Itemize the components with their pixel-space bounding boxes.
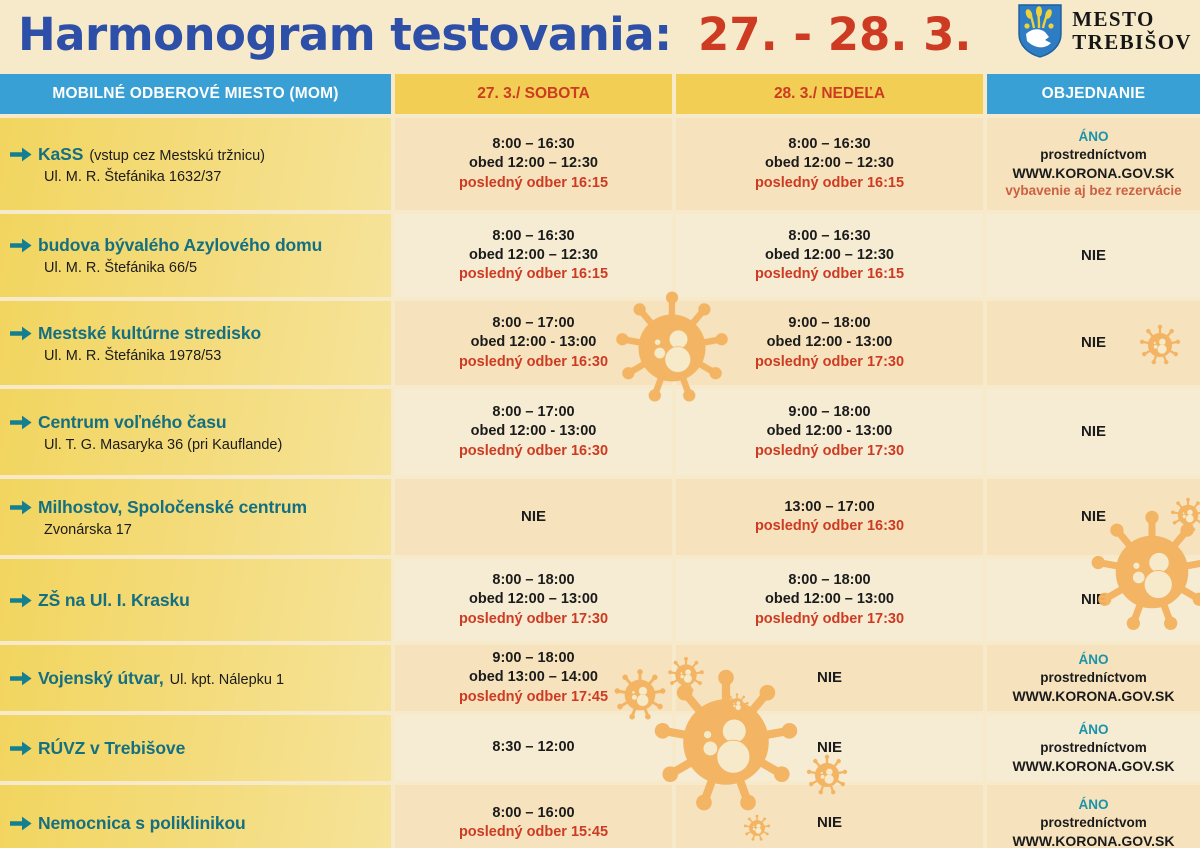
- cell-objednanie: NIE: [987, 479, 1200, 555]
- cell-saturday: 8:00 – 16:00posledný odber 15:45: [395, 785, 672, 848]
- lunch-break: obed 12:00 – 12:30: [765, 246, 894, 265]
- cell-objednanie: NIE: [987, 301, 1200, 385]
- location-address: Ul. M. R. Štefánika 1632/37: [44, 169, 383, 185]
- last-sampling: posledný odber 16:15: [459, 265, 608, 284]
- location-name: Milhostov, Spoločenské centrum: [38, 497, 307, 518]
- cell-sunday: 13:00 – 17:00posledný odber 16:30: [676, 479, 983, 555]
- trebisov-coat-of-arms-icon: [1018, 4, 1062, 58]
- cell-objednanie: NIE: [987, 214, 1200, 297]
- arrow-right-icon: [10, 593, 32, 608]
- arrow-right-icon: [10, 238, 32, 253]
- location-name-suffix: Ul. kpt. Nálepku 1: [170, 672, 284, 688]
- table-row: Vojenský útvar,Ul. kpt. Nálepku 19:00 – …: [0, 645, 1200, 711]
- booking-yes-label: ÁNO: [1079, 128, 1109, 146]
- cell-saturday: 8:00 – 17:00obed 12:00 - 13:00posledný o…: [395, 389, 672, 475]
- cell-saturday: 8:00 – 17:00obed 12:00 - 13:00posledný o…: [395, 301, 672, 385]
- closed-label: NIE: [817, 668, 842, 688]
- cell-location: Milhostov, Spoločenské centrumZvonárska …: [0, 479, 391, 555]
- location-name-suffix: (vstup cez Mestskú tržnicu): [89, 148, 265, 164]
- closed-label: NIE: [817, 738, 842, 758]
- booking-no-label: NIE: [1081, 590, 1106, 610]
- table-row: Centrum voľného časuUl. T. G. Masaryka 3…: [0, 389, 1200, 475]
- cell-sunday: 8:00 – 18:00obed 12:00 – 13:00posledný o…: [676, 559, 983, 641]
- table-row: KaSS(vstup cez Mestskú tržnicu)Ul. M. R.…: [0, 118, 1200, 210]
- booking-no-label: NIE: [1081, 507, 1106, 527]
- col-header-objednanie: OBJEDNANIE: [987, 74, 1200, 114]
- table-row: Nemocnica s poliklinikou8:00 – 16:00posl…: [0, 785, 1200, 848]
- cell-saturday: 8:00 – 16:30obed 12:00 – 12:30posledný o…: [395, 214, 672, 297]
- cell-location: RÚVZ v Trebišove: [0, 715, 391, 781]
- cell-location: KaSS(vstup cez Mestskú tržnicu)Ul. M. R.…: [0, 118, 391, 210]
- opening-hours: 8:00 – 18:00: [492, 571, 574, 590]
- location-name: Centrum voľného času: [38, 412, 227, 433]
- cell-objednanie: ÁNOprostredníctvomWWW.KORONA.GOV.SK: [987, 785, 1200, 848]
- last-sampling: posledný odber 15:45: [459, 823, 608, 842]
- booking-via-label: prostredníctvom: [1040, 146, 1147, 164]
- cell-sunday: 9:00 – 18:00obed 12:00 - 13:00posledný o…: [676, 301, 983, 385]
- cell-location: ZŠ na Ul. I. Krasku: [0, 559, 391, 641]
- cell-location: Mestské kultúrne strediskoUl. M. R. Štef…: [0, 301, 391, 385]
- schedule-table: MOBILNÉ ODBEROVÉ MIESTO (MOM) 27. 3./ SO…: [0, 74, 1200, 848]
- col-header-saturday: 27. 3./ SOBOTA: [395, 74, 672, 114]
- city-logo-text: MESTO TREBIŠOV: [1072, 8, 1192, 53]
- cell-location: budova bývalého Azylového domuUl. M. R. …: [0, 214, 391, 297]
- booking-via-label: prostredníctvom: [1040, 669, 1147, 687]
- table-row: ZŠ na Ul. I. Krasku8:00 – 18:00obed 12:0…: [0, 559, 1200, 641]
- closed-label: NIE: [817, 813, 842, 833]
- last-sampling: posledný odber 16:30: [459, 442, 608, 461]
- location-address: Ul. M. R. Štefánika 66/5: [44, 260, 383, 276]
- table-header-row: MOBILNÉ ODBEROVÉ MIESTO (MOM) 27. 3./ SO…: [0, 74, 1200, 114]
- table-body: KaSS(vstup cez Mestskú tržnicu)Ul. M. R.…: [0, 118, 1200, 848]
- cell-location: Vojenský útvar,Ul. kpt. Nálepku 1: [0, 645, 391, 711]
- table-row: Mestské kultúrne strediskoUl. M. R. Štef…: [0, 301, 1200, 385]
- page-title: Harmonogram testovania:: [18, 8, 672, 61]
- cell-saturday: 8:00 – 18:00obed 12:00 – 13:00posledný o…: [395, 559, 672, 641]
- lunch-break: obed 12:00 - 13:00: [471, 422, 597, 441]
- table-row: budova bývalého Azylového domuUl. M. R. …: [0, 214, 1200, 297]
- lunch-break: obed 12:00 – 13:00: [765, 590, 894, 609]
- location-name: Nemocnica s poliklinikou: [38, 813, 246, 834]
- arrow-right-icon: [10, 326, 32, 341]
- opening-hours: 8:00 – 18:00: [788, 571, 870, 590]
- location-name: KaSS: [38, 144, 83, 165]
- lunch-break: obed 12:00 – 13:00: [469, 590, 598, 609]
- arrow-right-icon: [10, 671, 32, 686]
- lunch-break: obed 12:00 – 12:30: [469, 154, 598, 173]
- cell-location: Centrum voľného časuUl. T. G. Masaryka 3…: [0, 389, 391, 475]
- cell-saturday: 9:00 – 18:00obed 13:00 – 14:00posledný o…: [395, 645, 672, 711]
- arrow-right-icon: [10, 741, 32, 756]
- closed-label: NIE: [521, 507, 546, 527]
- location-name: Mestské kultúrne stredisko: [38, 323, 261, 344]
- cell-saturday: NIE: [395, 479, 672, 555]
- booking-no-label: NIE: [1081, 333, 1106, 353]
- opening-hours: 8:00 – 16:30: [492, 135, 574, 154]
- cell-sunday: NIE: [676, 645, 983, 711]
- last-sampling: posledný odber 17:30: [459, 610, 608, 629]
- booking-url[interactable]: WWW.KORONA.GOV.SK: [1012, 757, 1174, 775]
- opening-hours: 9:00 – 18:00: [492, 649, 574, 668]
- lunch-break: obed 12:00 – 12:30: [765, 154, 894, 173]
- opening-hours: 8:30 – 12:00: [492, 738, 574, 757]
- cell-sunday: 8:00 – 16:30obed 12:00 – 12:30posledný o…: [676, 214, 983, 297]
- last-sampling: posledný odber 17:30: [755, 610, 904, 629]
- cell-objednanie: ÁNOprostredníctvomWWW.KORONA.GOV.SKvybav…: [987, 118, 1200, 210]
- table-row: RÚVZ v Trebišove8:30 – 12:00NIEÁNOprostr…: [0, 715, 1200, 781]
- opening-hours: 8:00 – 16:30: [788, 227, 870, 246]
- last-sampling: posledný odber 17:30: [755, 442, 904, 461]
- lunch-break: obed 12:00 - 13:00: [767, 422, 893, 441]
- arrow-right-icon: [10, 415, 32, 430]
- city-logo: MESTO TREBIŠOV: [1018, 4, 1192, 58]
- booking-url[interactable]: WWW.KORONA.GOV.SK: [1012, 687, 1174, 705]
- opening-hours: 9:00 – 18:00: [788, 314, 870, 333]
- logo-line-1: MESTO: [1072, 8, 1192, 31]
- location-address: Ul. M. R. Štefánika 1978/53: [44, 348, 383, 364]
- cell-sunday: 8:00 – 16:30obed 12:00 – 12:30posledný o…: [676, 118, 983, 210]
- location-address: Zvonárska 17: [44, 522, 383, 538]
- booking-note: vybavenie aj bez rezervácie: [1005, 182, 1181, 200]
- arrow-right-icon: [10, 147, 32, 162]
- cell-sunday: NIE: [676, 785, 983, 848]
- last-sampling: posledný odber 16:30: [459, 353, 608, 372]
- opening-hours: 8:00 – 17:00: [492, 314, 574, 333]
- cell-objednanie: NIE: [987, 559, 1200, 641]
- opening-hours: 9:00 – 18:00: [788, 403, 870, 422]
- cell-sunday: 9:00 – 18:00obed 12:00 - 13:00posledný o…: [676, 389, 983, 475]
- location-address: Ul. T. G. Masaryka 36 (pri Kauflande): [44, 437, 383, 453]
- cell-objednanie: ÁNOprostredníctvomWWW.KORONA.GOV.SK: [987, 645, 1200, 711]
- arrow-right-icon: [10, 816, 32, 831]
- booking-no-label: NIE: [1081, 422, 1106, 442]
- lunch-break: obed 12:00 - 13:00: [767, 333, 893, 352]
- opening-hours: 8:00 – 16:30: [788, 135, 870, 154]
- opening-hours: 8:00 – 16:30: [492, 227, 574, 246]
- arrow-right-icon: [10, 500, 32, 515]
- lunch-break: obed 12:00 - 13:00: [471, 333, 597, 352]
- location-name: Vojenský útvar,: [38, 668, 164, 689]
- booking-yes-label: ÁNO: [1079, 721, 1109, 739]
- cell-saturday: 8:00 – 16:30obed 12:00 – 12:30posledný o…: [395, 118, 672, 210]
- last-sampling: posledný odber 17:45: [459, 688, 608, 707]
- cell-objednanie: NIE: [987, 389, 1200, 475]
- last-sampling: posledný odber 16:15: [459, 174, 608, 193]
- logo-line-2: TREBIŠOV: [1072, 31, 1192, 54]
- cell-location: Nemocnica s poliklinikou: [0, 785, 391, 848]
- booking-via-label: prostredníctvom: [1040, 739, 1147, 757]
- last-sampling: posledný odber 16:30: [755, 517, 904, 536]
- lunch-break: obed 13:00 – 14:00: [469, 668, 598, 687]
- booking-url[interactable]: WWW.KORONA.GOV.SK: [1012, 832, 1174, 848]
- title-date-range: 27. - 28. 3.: [698, 8, 972, 61]
- booking-yes-label: ÁNO: [1079, 651, 1109, 669]
- table-row: Milhostov, Spoločenské centrumZvonárska …: [0, 479, 1200, 555]
- poster-header: Harmonogram testovania: 27. - 28. 3. MES…: [0, 0, 1200, 74]
- location-name: RÚVZ v Trebišove: [38, 738, 185, 759]
- opening-hours: 8:00 – 16:00: [492, 804, 574, 823]
- location-name: ZŠ na Ul. I. Krasku: [38, 590, 190, 611]
- col-header-sunday: 28. 3./ NEDEĽA: [676, 74, 983, 114]
- cell-saturday: 8:30 – 12:00: [395, 715, 672, 781]
- cell-sunday: NIE: [676, 715, 983, 781]
- lunch-break: obed 12:00 – 12:30: [469, 246, 598, 265]
- poster-root: Harmonogram testovania: 27. - 28. 3. MES…: [0, 0, 1200, 848]
- booking-url[interactable]: WWW.KORONA.GOV.SK: [1012, 164, 1174, 182]
- location-name: budova bývalého Azylového domu: [38, 235, 322, 256]
- cell-objednanie: ÁNOprostredníctvomWWW.KORONA.GOV.SK: [987, 715, 1200, 781]
- last-sampling: posledný odber 17:30: [755, 353, 904, 372]
- opening-hours: 13:00 – 17:00: [784, 498, 874, 517]
- col-header-place: MOBILNÉ ODBEROVÉ MIESTO (MOM): [0, 74, 391, 114]
- last-sampling: posledný odber 16:15: [755, 265, 904, 284]
- booking-no-label: NIE: [1081, 246, 1106, 266]
- booking-yes-label: ÁNO: [1079, 796, 1109, 814]
- opening-hours: 8:00 – 17:00: [492, 403, 574, 422]
- booking-via-label: prostredníctvom: [1040, 814, 1147, 832]
- last-sampling: posledný odber 16:15: [755, 174, 904, 193]
